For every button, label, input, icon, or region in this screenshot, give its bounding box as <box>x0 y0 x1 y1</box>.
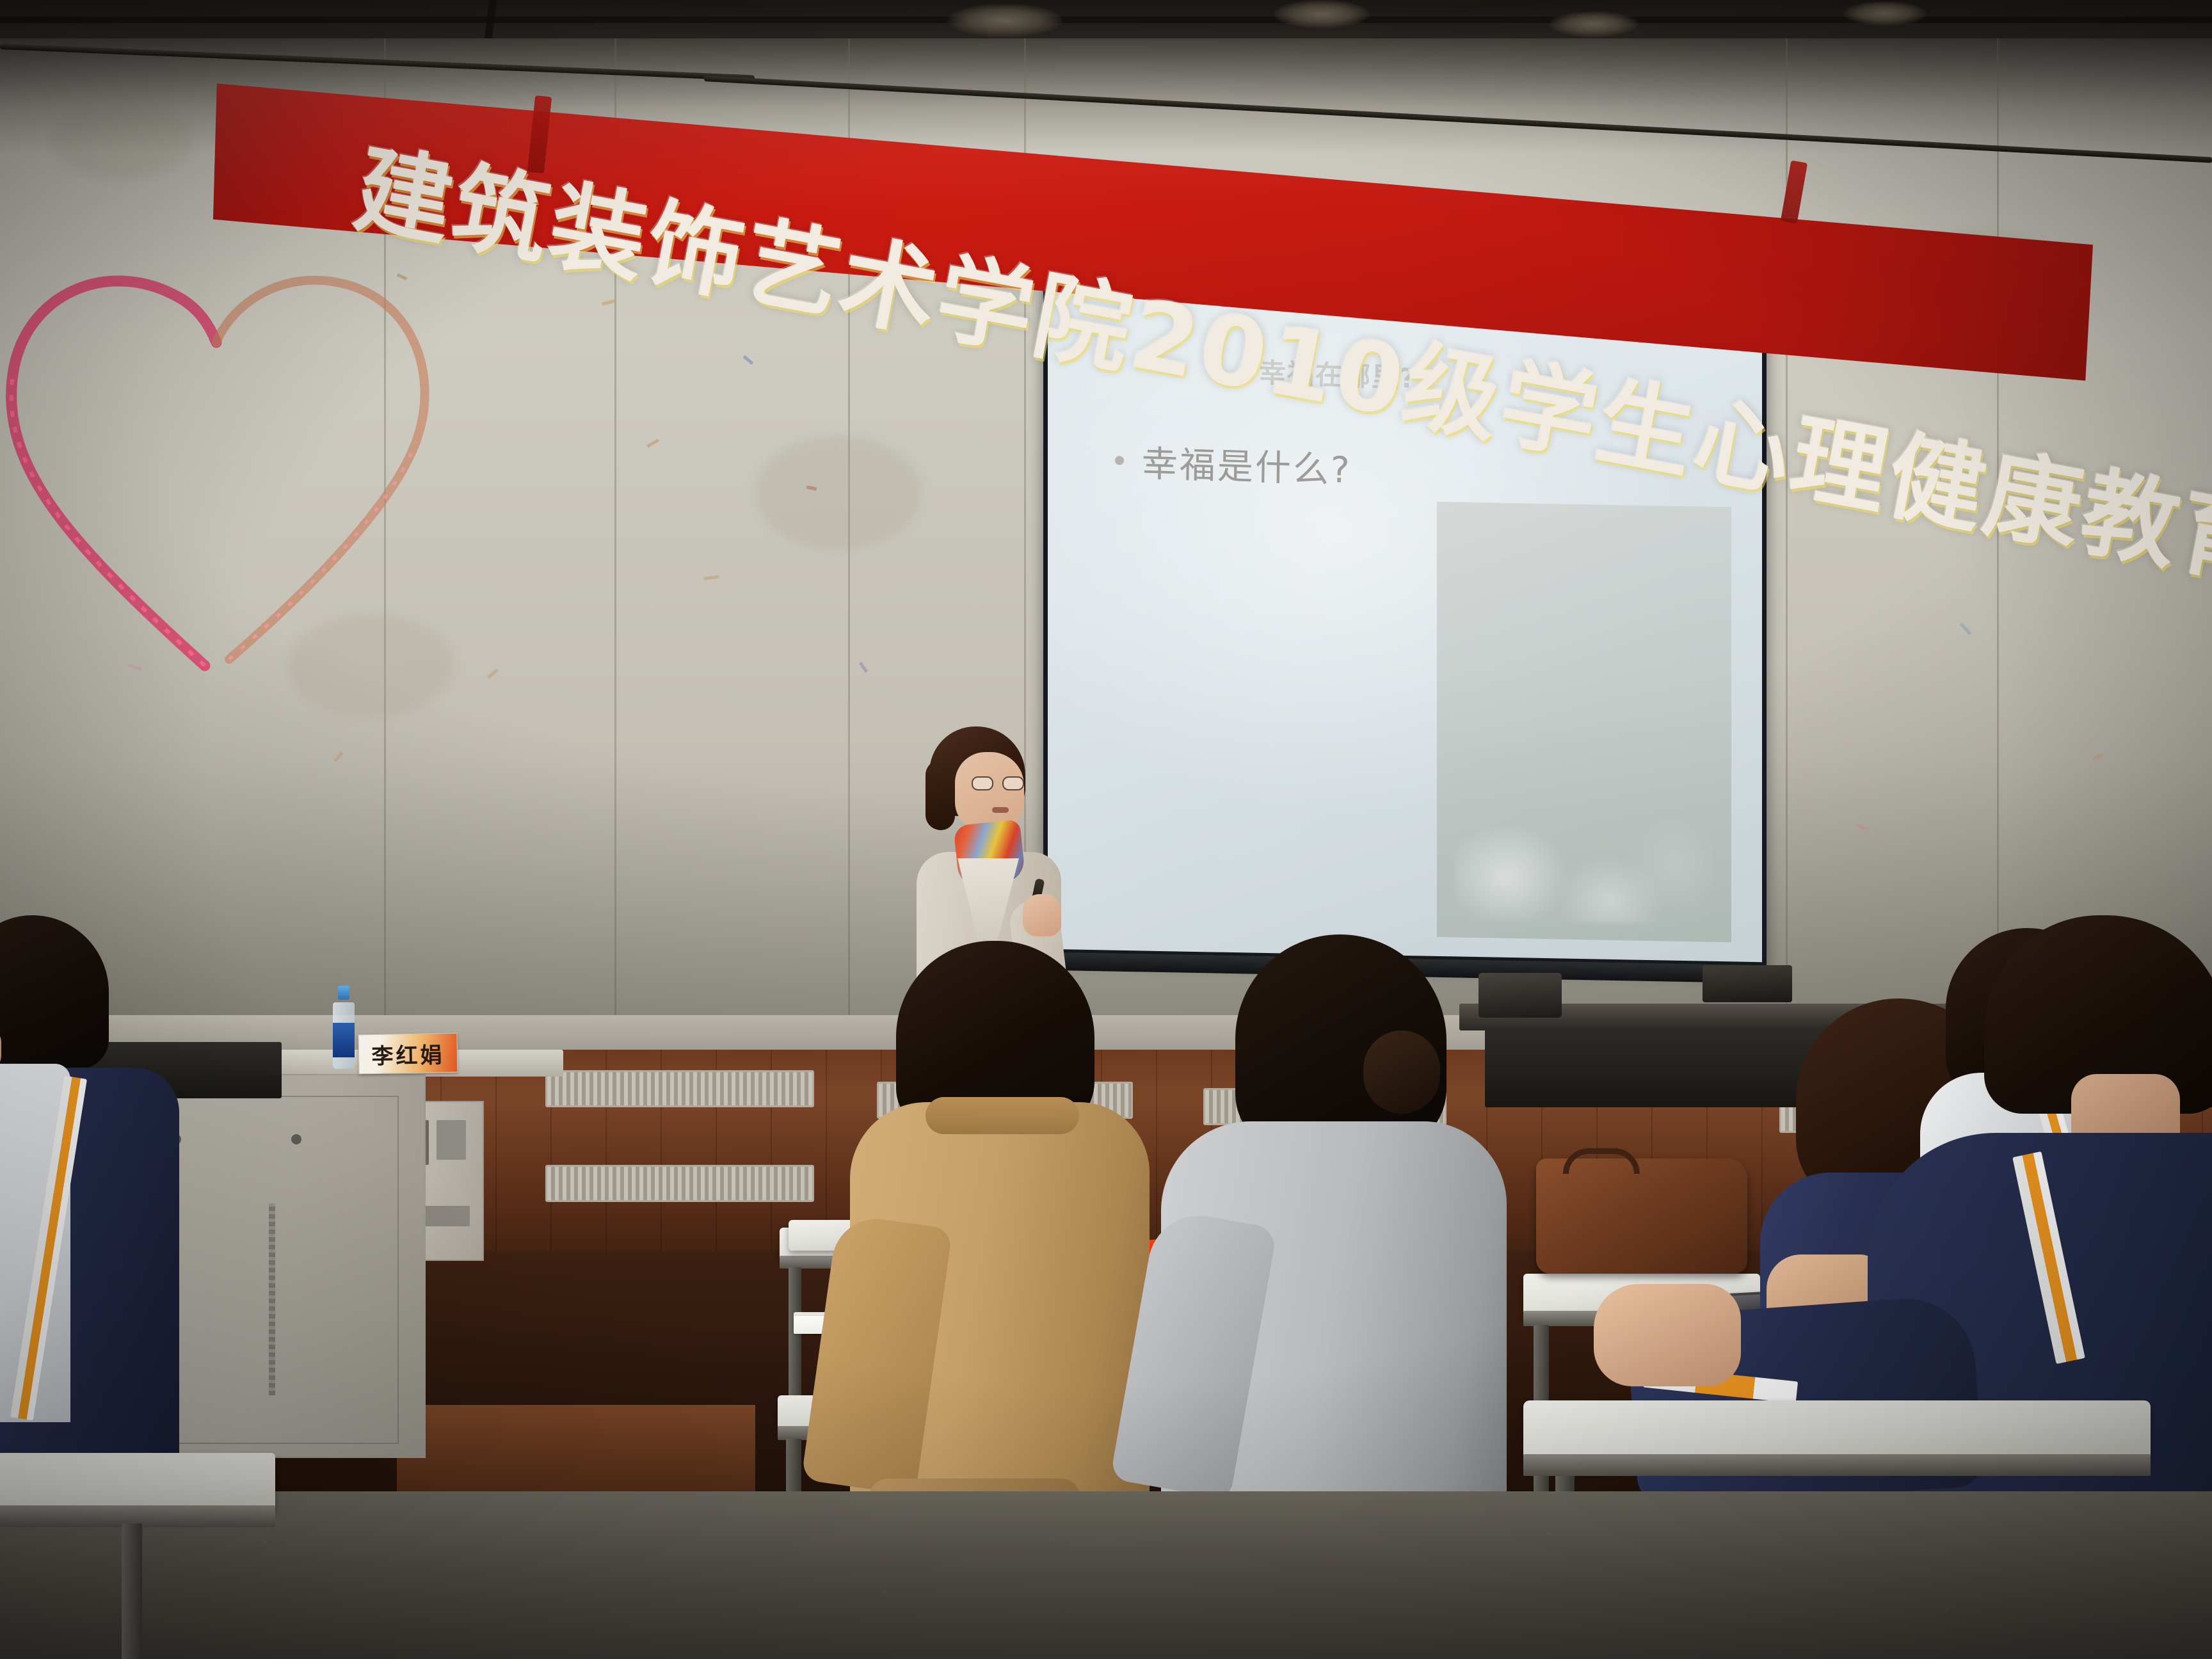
ceiling-light <box>1274 0 1370 28</box>
student-hair-bun <box>1363 1030 1440 1114</box>
event-banner: 建筑装饰艺术学院2010级学生心理健康教育讲座 <box>211 40 2093 501</box>
speaker-name-card: 李红娟 <box>358 1033 458 1075</box>
lecture-hall-photo: 幸福在哪里? 幸福是什么? 建筑装饰艺术学院2010级学生心理健康教育讲座 <box>0 0 2212 1659</box>
handbag-strap <box>1563 1148 1640 1174</box>
student-front-left <box>0 915 230 1491</box>
floor <box>0 1491 2212 1659</box>
student-hair <box>0 915 109 1069</box>
radiator-grille <box>545 1070 814 1107</box>
foreground-desk-top <box>0 1453 275 1512</box>
speaker-face <box>955 752 1024 831</box>
foreground-desk-leg <box>122 1523 142 1659</box>
water-bottle <box>333 986 355 1069</box>
floor-texture <box>0 1491 2212 1659</box>
student-collar <box>926 1097 1079 1134</box>
bottle-label <box>333 1023 355 1057</box>
ceiling-light <box>1843 1 1927 26</box>
podium-knob <box>291 1134 301 1144</box>
slide-image <box>1437 502 1731 942</box>
glasses-icon <box>972 776 1025 790</box>
speaker-hair-side <box>926 760 955 830</box>
foreground-desk-edge <box>1523 1454 2151 1476</box>
ceiling-light <box>947 4 1062 37</box>
speaker-name-text: 李红娟 <box>371 1038 445 1070</box>
foreground-desk-top <box>1523 1400 2151 1462</box>
student-hand <box>1594 1284 1741 1386</box>
speaker-hand <box>1023 894 1061 936</box>
wall-stain <box>51 102 192 179</box>
ceiling-light <box>1549 12 1639 37</box>
bottle-cap <box>338 986 349 1000</box>
speaker-mouth <box>992 807 1009 813</box>
radiator-grille <box>545 1165 814 1202</box>
podium-vent <box>269 1203 275 1395</box>
podium-base-step <box>397 1405 755 1498</box>
